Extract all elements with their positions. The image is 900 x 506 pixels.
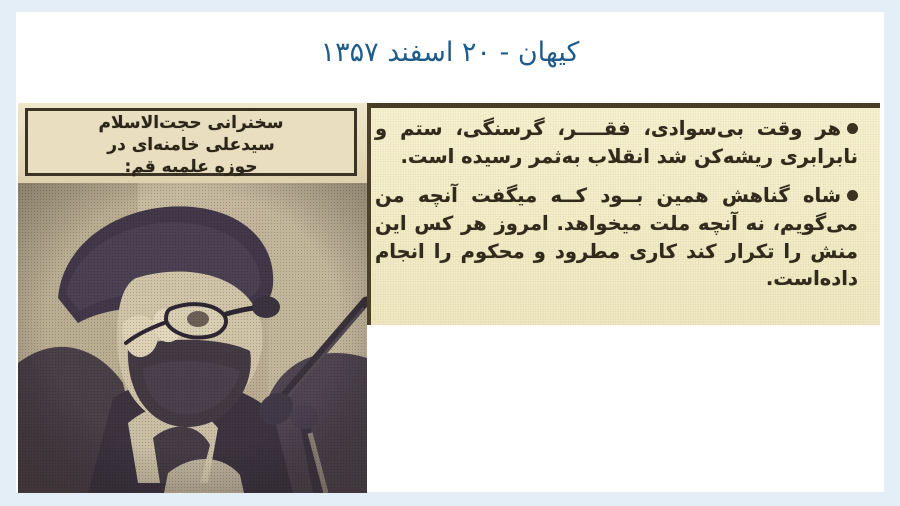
clipping-body-text: هر وقت بی‌سوادی، فقــــر، گرسنگی، ستم و … (375, 115, 858, 293)
clipping-right-column: هر وقت بی‌سوادی، فقــــر، گرسنگی، ستم و … (367, 103, 880, 325)
newspaper-clipping: سخنرانی حجت‌الاسلام سیدعلی خامنه‌ای در ح… (18, 103, 880, 493)
headline-line-3: حوزه علمیه قم: (34, 157, 348, 179)
headline-box: سخنرانی حجت‌الاسلام سیدعلی خامنه‌ای در ح… (25, 108, 357, 176)
clipping-paragraph-2-text: شاه گناهش همین بــود کــه میگفت آنچه من … (375, 184, 858, 291)
page-title: کیهان - ۲۰ اسفند ۱۳۵۷ (0, 36, 900, 70)
bullet-icon (847, 190, 858, 201)
column-rule (367, 103, 371, 325)
headline-band: سخنرانی حجت‌الاسلام سیدعلی خامنه‌ای در ح… (18, 103, 367, 185)
headline-line-1: سخنرانی حجت‌الاسلام (34, 113, 348, 135)
clipping-left-column: سخنرانی حجت‌الاسلام سیدعلی خامنه‌ای در ح… (18, 103, 367, 493)
bullet-icon (847, 123, 858, 134)
speaker-photo (18, 183, 367, 493)
slide: کیهان - ۲۰ اسفند ۱۳۵۷ سخنرانی حجت‌الاسلا… (0, 0, 900, 506)
clipping-paragraph-1: هر وقت بی‌سوادی، فقــــر، گرسنگی، ستم و … (375, 115, 858, 171)
speaker-photo-graphic (18, 183, 367, 493)
clipping-paragraph-2: شاه گناهش همین بــود کــه میگفت آنچه من … (375, 182, 858, 294)
headline-line-2: سیدعلی خامنه‌ای در (34, 135, 348, 157)
clipping-paragraph-1-text: هر وقت بی‌سوادی، فقــــر، گرسنگی، ستم و … (375, 117, 858, 168)
